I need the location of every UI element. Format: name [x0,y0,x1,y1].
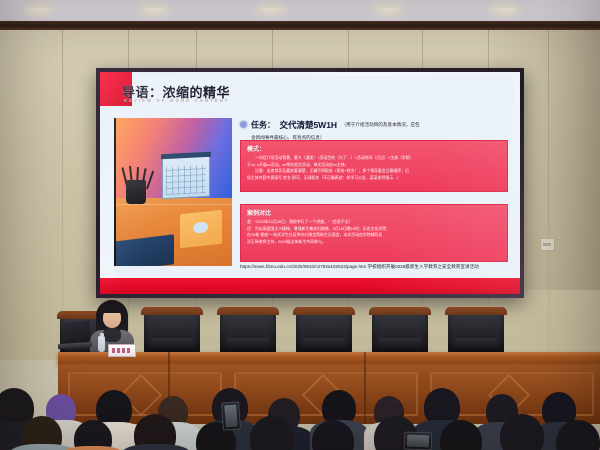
notebook-icon [180,210,222,248]
lecture-hall-scene: 导语：浓缩的精华 REVIEW OF WORK CONTENT [0,0,600,450]
case-box-heading: 案例对比 [247,208,507,217]
slide-subtitle: REVIEW OF WORK CONTENT [124,98,230,103]
chair [220,310,276,354]
presenter-scarf [103,328,121,342]
pattern-box-heading: 模式： [247,144,507,153]
water-bottle [98,336,105,352]
case-line: 在25栋“星座”一站式学生社区举办红歌会暨新生见面会，本次活动由学院辅导员 [247,232,501,238]
screen-surface: 导语：浓缩的精华 REVIEW OF WORK CONTENT [100,72,520,294]
audience-head [440,420,482,450]
case-line: 优：为弘扬爱国主义精神，增强新生集体归属感，9月16日晚19时，历史文化学院 [247,226,501,232]
ceiling-light-icon [258,7,284,12]
case-line: 邓玉琴老师主持，2025级全体新生共同参与。 [247,239,501,245]
led-screen: 导语：浓缩的精华 REVIEW OF WORK CONTENT [96,68,524,298]
pen-holder-icon [126,180,146,204]
slide-photo-desk [114,118,232,266]
slide-bottom-bar [100,278,520,294]
presenter-fringe [101,305,123,313]
calendar-grid [166,165,206,195]
chair [372,310,428,354]
crown-molding [0,21,600,30]
audience [0,386,600,450]
chair [448,310,504,354]
slide-pattern-box: 模式： 一句话介绍活动背景、意义（通发）+活动目的（为了…）+活动时间（月日）+… [240,140,508,192]
ceiling-light-icon [492,7,518,12]
ceiling [0,0,600,22]
phone-icon [404,432,433,450]
audience-head [556,420,600,450]
ceiling-light-icon [375,7,401,12]
slide-caption-text: 学校组织开展2025级新生入学教育之安全教育宣讲活动 [367,264,478,269]
slide-case-box: 案例对比 差：“2023年10月26日，我校举行了一个讲座。”（信息不全） 优：… [240,204,508,262]
pattern-line: 注意：出席领导及嘉宾要清楚、正确写明职务（职务+姓名）；多个领导要会注意顺序；后 [247,168,501,174]
slide-task-row: 任务： 交代清楚5W1H （用于介绍活动目的及基本情况，应包 含新闻事件最核心、… [240,116,508,141]
case-line: 差：“2023年10月26日，我校举行了一个讲座。”（信息不全） [247,219,501,225]
slide-caption-url: https://news.hbnu.edu.cn/2025/0910/c2753… [240,264,366,269]
slide-caption: https://news.hbnu.edu.cn/2025/0910/c2753… [240,264,510,271]
presentation-slide: 导语：浓缩的精华 REVIEW OF WORK CONTENT [100,72,520,294]
ceiling-light-icon [141,7,167,12]
presenter-laptop [58,322,92,348]
pattern-line: 一句话介绍活动背景、意义（通发）+活动目的（为了…）+活动时间（月日）+主体（学… [247,155,501,161]
task-bullet-label: 任务： [251,120,275,129]
bullet-dot-icon [240,121,247,128]
presenter-nameplate [108,344,136,357]
chair [296,310,352,354]
calendar-icon [162,155,210,200]
audience-head [500,414,544,450]
podium-desk-top [58,352,600,364]
task-note-line-1: （用于介绍活动目的及基本情况，应包 [342,122,420,127]
ceiling-light-icon [26,7,52,12]
chair [144,310,200,354]
task-headline: 交代清楚5W1H [279,120,337,130]
pattern-line: 于xxం开展xx活动，xx举办此次活动，单次活动由xx主持。 [247,162,501,168]
pattern-line: 续主体内容中直接写 姓名 即可，无须职务（不正确表述：如学习公告…某某老师指示…… [247,175,501,181]
phone-icon [221,401,241,430]
